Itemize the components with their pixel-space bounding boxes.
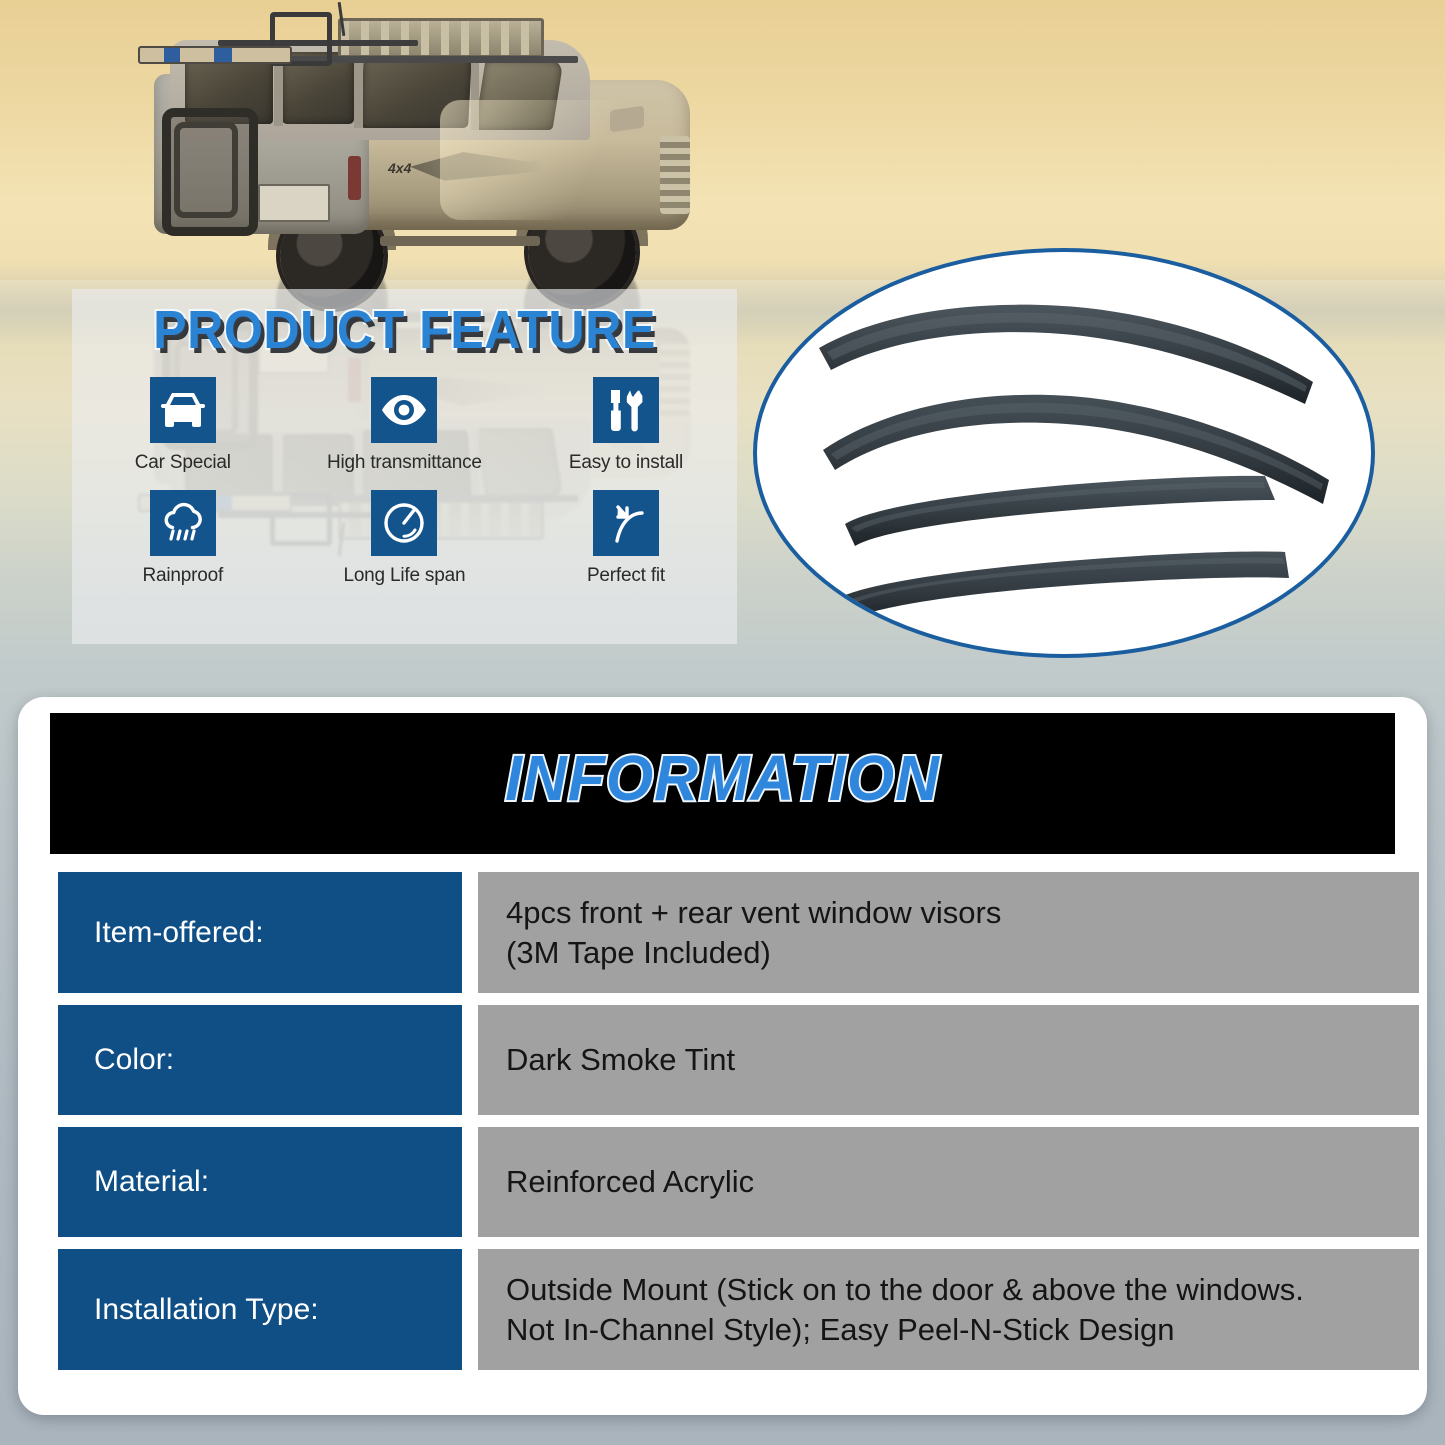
row-value-line1: Reinforced Acrylic — [506, 1162, 754, 1202]
product-infographic: 4x4 PRODUCT FEATURE Car Special — [0, 0, 1445, 1445]
information-table: Item-offered: 4pcs front + rear vent win… — [58, 872, 1419, 1382]
row-value-line1: Dark Smoke Tint — [506, 1040, 735, 1080]
feature-label: High transmittance — [294, 452, 516, 474]
feature-label: Easy to install — [515, 452, 737, 474]
table-row: Installation Type: Outside Mount (Stick … — [58, 1249, 1419, 1370]
information-title: INFORMATION — [84, 741, 1362, 815]
product-feature-title: PRODUCT FEATURE — [95, 299, 713, 361]
visor-piece-4 — [835, 551, 1289, 622]
arrow-curve-fit-icon — [593, 490, 659, 556]
feature-item-car-special: Car Special — [72, 377, 294, 474]
row-value: Dark Smoke Tint — [478, 1005, 1419, 1115]
table-row: Material: Reinforced Acrylic — [58, 1127, 1419, 1237]
stopwatch-icon — [371, 490, 437, 556]
feature-grid: Car Special High transmittance — [72, 377, 737, 587]
feature-item-rainproof: Rainproof — [72, 490, 294, 587]
eye-icon — [371, 377, 437, 443]
product-oval — [753, 248, 1375, 658]
tools-icon — [593, 377, 659, 443]
row-label: Color: — [58, 1005, 462, 1115]
feature-item-perfect-fit: Perfect fit — [515, 490, 737, 587]
information-header: INFORMATION — [50, 713, 1395, 854]
row-value-line2: (3M Tape Included) — [506, 933, 1001, 973]
row-label: Item-offered: — [58, 872, 462, 993]
feature-label: Long Life span — [294, 565, 516, 587]
row-value: 4pcs front + rear vent window visors (3M… — [478, 872, 1419, 993]
row-value-line1: 4pcs front + rear vent window visors — [506, 893, 1001, 933]
feature-label: Perfect fit — [515, 565, 737, 587]
row-label: Material: — [58, 1127, 462, 1237]
row-value-line2: Not In-Channel Style); Easy Peel-N-Stick… — [506, 1310, 1304, 1350]
row-value: Reinforced Acrylic — [478, 1127, 1419, 1237]
product-feature-panel: PRODUCT FEATURE Car Special — [72, 289, 737, 644]
row-label: Installation Type: — [58, 1249, 462, 1370]
table-row: Item-offered: 4pcs front + rear vent win… — [58, 872, 1419, 993]
suv-photo: 4x4 — [140, 8, 720, 308]
row-value: Outside Mount (Stick on to the door & ab… — [478, 1249, 1419, 1370]
row-value-line1: Outside Mount (Stick on to the door & ab… — [506, 1270, 1304, 1310]
feature-label: Car Special — [72, 452, 294, 474]
information-card: INFORMATION Item-offered: 4pcs front + r… — [18, 697, 1427, 1415]
feature-label: Rainproof — [72, 565, 294, 587]
car-front-icon — [150, 377, 216, 443]
visor-piece-1 — [819, 305, 1313, 404]
rain-cloud-icon — [150, 490, 216, 556]
feature-item-long-life-span: Long Life span — [294, 490, 516, 587]
visor-piece-3 — [845, 476, 1275, 546]
product-feature-title-text: PRODUCT FEATURE — [153, 300, 656, 360]
table-row: Color: Dark Smoke Tint — [58, 1005, 1419, 1115]
window-visor-set — [757, 252, 1363, 646]
feature-item-high-transmittance: High transmittance — [294, 377, 516, 474]
feature-item-easy-to-install: Easy to install — [515, 377, 737, 474]
